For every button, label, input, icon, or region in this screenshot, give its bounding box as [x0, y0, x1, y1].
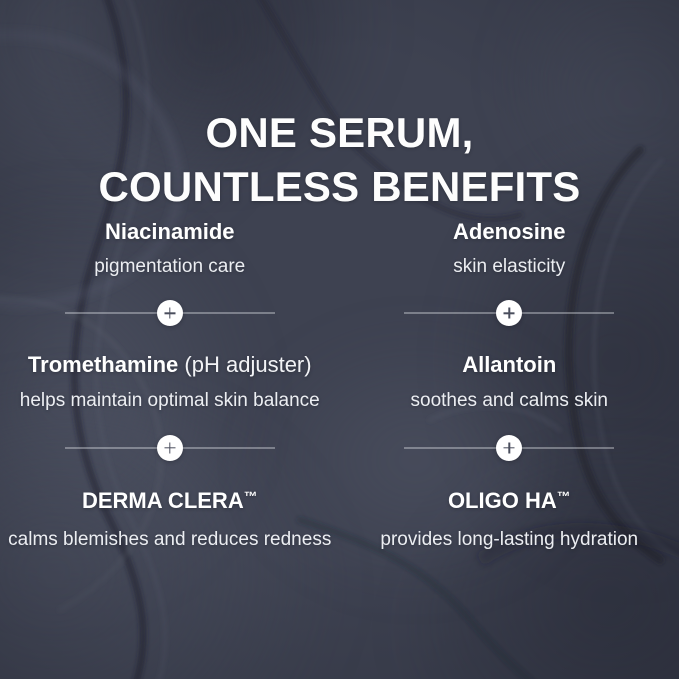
benefit-description: pigmentation care	[0, 255, 340, 280]
benefit-title: DERMA CLERA™	[0, 487, 340, 515]
trademark-symbol: ™	[244, 489, 258, 504]
benefits-row: DERMA CLERA™ calms blemishes and reduces…	[0, 487, 679, 552]
plus-icon	[157, 300, 183, 326]
benefit-title: Tromethamine (pH adjuster)	[0, 351, 340, 379]
benefit-name: OLIGO HA	[448, 488, 557, 513]
benefit-name: Allantoin	[462, 352, 556, 377]
benefit-description: helps maintain optimal skin balance	[0, 389, 340, 414]
poster-content: ONE SERUM, COUNTLESS BENEFITS Niacinamid…	[0, 0, 679, 679]
benefits-poster: ONE SERUM, COUNTLESS BENEFITS Niacinamid…	[0, 0, 679, 679]
benefit-divider	[340, 295, 679, 331]
benefit-name-suffix: (pH adjuster)	[184, 352, 311, 377]
plus-icon	[496, 435, 522, 461]
benefit-cell-tromethamine: Tromethamine (pH adjuster) helps maintai…	[0, 351, 340, 465]
benefit-title: Niacinamide	[0, 218, 340, 246]
trademark-symbol: ™	[557, 489, 571, 504]
plus-icon	[157, 435, 183, 461]
benefit-name: Niacinamide	[105, 219, 235, 244]
benefit-description: calms blemishes and reduces redness	[0, 528, 340, 553]
benefit-divider	[0, 295, 340, 331]
benefits-row: Tromethamine (pH adjuster) helps maintai…	[0, 351, 679, 465]
benefit-name: Adenosine	[453, 219, 565, 244]
page-title-line-2: COUNTLESS BENEFITS	[0, 160, 679, 214]
benefit-divider	[0, 430, 340, 466]
benefit-cell-adenosine: Adenosine skin elasticity	[340, 218, 679, 331]
page-title: ONE SERUM, COUNTLESS BENEFITS	[0, 106, 679, 214]
benefit-cell-allantoin: Allantoin soothes and calms skin	[340, 351, 679, 465]
plus-icon	[496, 300, 522, 326]
benefit-title: Adenosine	[340, 218, 679, 246]
benefit-title: Allantoin	[340, 351, 679, 379]
benefit-title: OLIGO HA™	[340, 487, 679, 515]
benefit-description: soothes and calms skin	[340, 389, 679, 414]
benefits-row: Niacinamide pigmentation care Adenosine …	[0, 218, 679, 331]
benefit-name: Tromethamine	[28, 352, 178, 377]
benefit-divider	[340, 430, 679, 466]
page-title-line-1: ONE SERUM,	[205, 109, 473, 156]
benefit-name: DERMA CLERA	[82, 488, 244, 513]
benefit-cell-derma-clera: DERMA CLERA™ calms blemishes and reduces…	[0, 487, 340, 552]
benefit-cell-oligo-ha: OLIGO HA™ provides long-lasting hydratio…	[340, 487, 679, 552]
benefit-cell-niacinamide: Niacinamide pigmentation care	[0, 218, 340, 331]
benefit-description: skin elasticity	[340, 255, 679, 280]
benefit-description: provides long-lasting hydration	[340, 528, 679, 553]
benefits-grid: Niacinamide pigmentation care Adenosine …	[0, 218, 679, 552]
